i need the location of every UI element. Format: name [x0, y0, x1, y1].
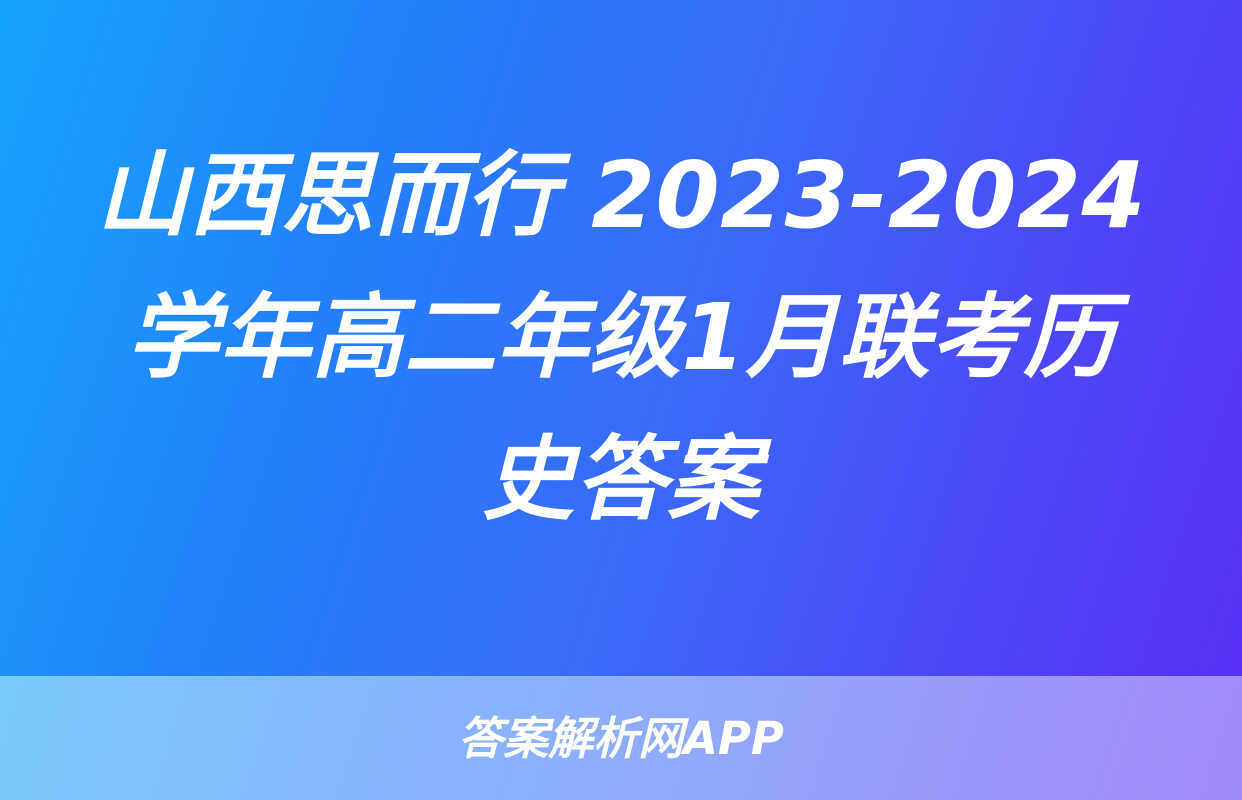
- watermark-band: 答案解析网APP: [0, 676, 1242, 800]
- answer-card: 山西思而行 2023-2024学年高二年级1月联考历史答案 答案解析网APP: [0, 0, 1242, 800]
- watermark-app-label: 答案解析网APP: [458, 716, 784, 761]
- page-title: 山西思而行 2023-2024学年高二年级1月联考历史答案: [86, 125, 1156, 550]
- title-area: 山西思而行 2023-2024学年高二年级1月联考历史答案: [0, 0, 1242, 676]
